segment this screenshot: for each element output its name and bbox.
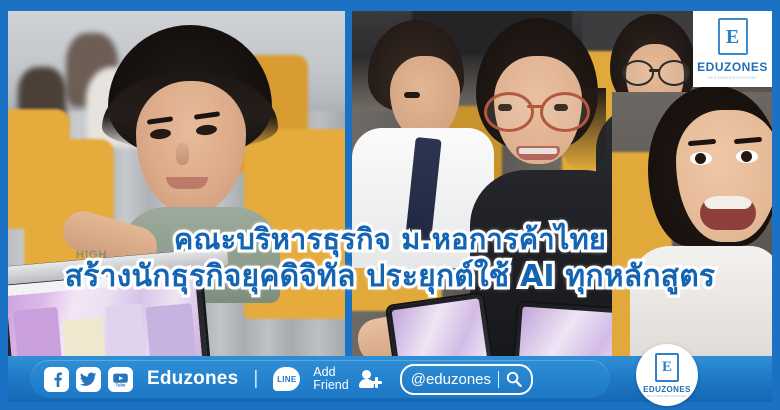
frame-top [0, 0, 780, 11]
search-handle-text: @eduzones [411, 371, 491, 388]
logo-badge-letter: E [662, 360, 672, 375]
logo-letter-box: E [718, 18, 748, 55]
facebook-icon[interactable] [44, 367, 69, 392]
frame-left [0, 0, 8, 410]
line-badge-label: LINE [277, 375, 296, 384]
add-friend-line-2: Friend [313, 379, 348, 392]
footer-pill: Tube Eduzones | LINE Add Friend @eduzone… [30, 360, 610, 398]
logo-badge-letter-box: E [655, 353, 679, 382]
eyeglasses [484, 92, 590, 126]
footer-divider: | [253, 368, 258, 390]
add-friend-label[interactable]: Add Friend [313, 366, 348, 392]
add-person-icon[interactable] [359, 368, 381, 390]
eduzones-logo-card: E EDUZONES BE A SMARTER EDUZONES [693, 11, 772, 87]
logo-letter: E [726, 27, 739, 47]
search-handle-pill[interactable]: @eduzones [400, 364, 533, 395]
photo-student-with-laptop: HIGH [8, 11, 345, 389]
eduzones-logo-badge: E EDUZONES BE A SMARTER EDUZONES [636, 344, 698, 406]
svg-text:Tube: Tube [116, 382, 126, 387]
footer-bar: Tube Eduzones | LINE Add Friend @eduzone… [8, 356, 772, 402]
logo-badge-wordmark: EDUZONES [643, 385, 691, 394]
youtube-icon[interactable]: Tube [108, 367, 133, 392]
logo-badge-tagline: BE A SMARTER EDUZONES [647, 395, 686, 398]
search-icon[interactable] [506, 371, 522, 387]
footer-brand-label: Eduzones [147, 368, 238, 390]
eduzones-promo-banner: HIGH E EDUZONES BE A SMARTER EDUZONES [0, 0, 780, 410]
twitter-icon[interactable] [76, 367, 101, 392]
person-front-left [100, 25, 280, 275]
frame-right [772, 0, 780, 410]
line-icon[interactable]: LINE [273, 367, 300, 391]
search-separator [498, 371, 499, 388]
logo-wordmark: EDUZONES [697, 60, 768, 74]
logo-tagline: BE A SMARTER EDUZONES [708, 76, 756, 80]
